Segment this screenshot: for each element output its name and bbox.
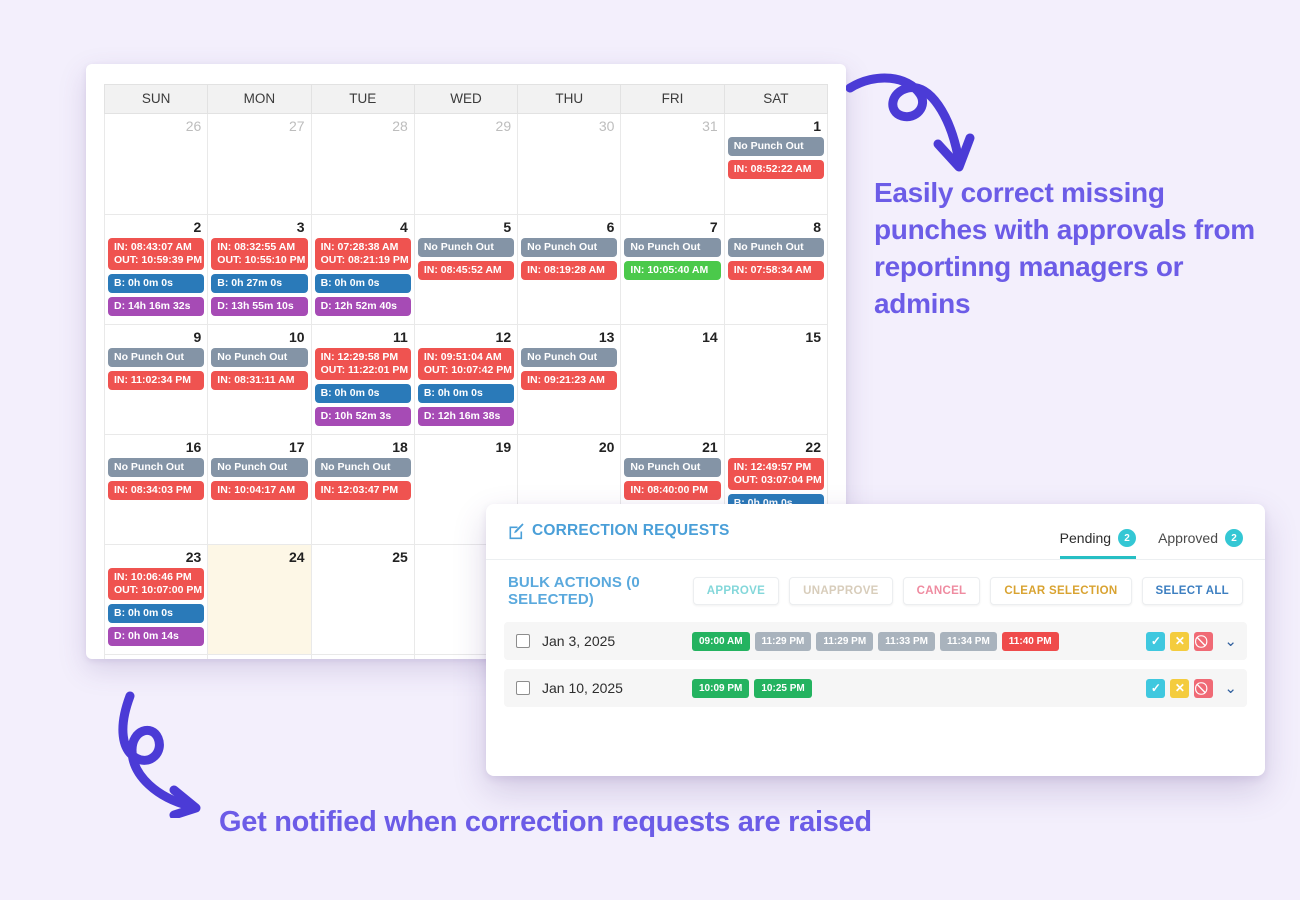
correction-request-row[interactable]: Jan 10, 202510:09 PM10:25 PM✓✕⃠⌄ — [504, 669, 1247, 707]
calendar-day-cell[interactable]: 17No Punch OutIN: 10:04:17 AM — [208, 435, 311, 545]
punch-time-chip[interactable]: 10:09 PM — [692, 679, 749, 698]
calendar-day-cell[interactable]: 4 — [311, 655, 414, 660]
expand-chevron-icon[interactable]: ⌄ — [1224, 632, 1237, 650]
day-number: 13 — [521, 328, 617, 348]
calendar-event-chip[interactable]: D: 0h 0m 14s — [108, 627, 204, 646]
event-line-1: No Punch Out — [734, 241, 804, 253]
event-line-1: D: 0h 0m 14s — [114, 630, 179, 642]
day-number: 12 — [418, 328, 514, 348]
calendar-event-chip[interactable]: IN: 10:05:40 AM — [624, 261, 720, 280]
bulk-selectall-button[interactable]: SELECT ALL — [1142, 577, 1244, 605]
event-line-1: B: 0h 0m 0s — [114, 277, 173, 289]
calendar-event-chip[interactable]: No Punch Out — [108, 348, 204, 367]
calendar-day-cell[interactable]: 1No Punch OutIN: 08:52:22 AM — [724, 114, 827, 215]
day-number: 22 — [728, 438, 824, 458]
day-number: 5 — [418, 218, 514, 238]
event-line-1: IN: 12:49:57 PM — [734, 461, 812, 473]
event-line-1: D: 12h 52m 40s — [321, 300, 397, 312]
weekday-header-thu: THU — [518, 85, 621, 114]
event-line-1: D: 12h 16m 38s — [424, 410, 500, 422]
calendar-event-chip[interactable]: IN: 12:29:58 PMOUT: 11:22:01 PM — [315, 348, 411, 380]
calendar-event-chip[interactable]: No Punch Out — [624, 238, 720, 257]
calendar-day-cell[interactable]: 3IN: 08:32:55 AMOUT: 10:55:10 PMB: 0h 27… — [208, 215, 311, 325]
calendar-event-chip[interactable]: No Punch Out — [211, 458, 307, 477]
event-line-1: IN: 08:32:55 AM — [217, 241, 295, 253]
weekday-header-fri: FRI — [621, 85, 724, 114]
event-line-1: IN: 08:52:22 AM — [734, 163, 812, 175]
day-number: 23 — [108, 548, 204, 568]
day-number: 30 — [521, 117, 617, 137]
bulk-actions-title: BULK ACTIONS (0 SELECTED) — [508, 574, 693, 608]
block-icon[interactable]: ⃠ — [1194, 632, 1213, 651]
calendar-header-row: SUNMONTUEWEDTHUFRISAT — [105, 85, 828, 114]
event-line-1: IN: 10:06:46 PM — [114, 571, 192, 583]
panel-title-text: CORRECTION REQUESTS — [532, 522, 730, 540]
calendar-event-chip[interactable]: IN: 08:52:22 AM — [728, 160, 824, 179]
calendar-event-chip[interactable]: IN: 08:31:11 AM — [211, 371, 307, 390]
calendar-event-chip[interactable]: B: 0h 27m 0s — [211, 274, 307, 293]
event-line-1: No Punch Out — [424, 241, 494, 253]
punch-time-chip[interactable]: 09:00 AM — [692, 632, 750, 651]
row-actions: ✓✕⃠⌄ — [1146, 632, 1237, 651]
day-number: 24 — [211, 548, 307, 568]
tab-approved[interactable]: Approved2 — [1158, 529, 1243, 559]
calendar-event-chip[interactable]: No Punch Out — [624, 458, 720, 477]
day-number: 3 — [211, 218, 307, 238]
day-number: 19 — [418, 438, 514, 458]
event-line-1: IN: 09:51:04 AM — [424, 351, 502, 363]
punch-time-chip[interactable]: 10:25 PM — [754, 679, 811, 698]
curved-arrow-bottom-left-icon — [112, 688, 222, 818]
calendar-event-chip[interactable]: IN: 12:49:57 PMOUT: 03:07:04 PM — [728, 458, 824, 490]
calendar-event-chip[interactable]: No Punch Out — [211, 348, 307, 367]
event-line-1: IN: 12:03:47 PM — [321, 484, 399, 496]
calendar-event-chip[interactable]: B: 0h 0m 0s — [418, 384, 514, 403]
event-line-1: IN: 08:19:28 AM — [527, 264, 605, 276]
calendar-day-cell[interactable]: 7No Punch OutIN: 10:05:40 AM — [621, 215, 724, 325]
calendar-day-cell[interactable]: 14 — [621, 325, 724, 435]
calendar-event-chip[interactable]: D: 12h 16m 38s — [418, 407, 514, 426]
calendar-event-chip[interactable]: No Punch Out — [728, 238, 824, 257]
event-line-1: No Punch Out — [217, 351, 287, 363]
calendar-day-cell[interactable]: 23IN: 10:06:46 PMOUT: 10:07:00 PMB: 0h 0… — [105, 545, 208, 655]
event-line-1: No Punch Out — [217, 461, 287, 473]
day-number: 9 — [108, 328, 204, 348]
event-line-1: No Punch Out — [527, 241, 597, 253]
day-number: 3 — [211, 658, 307, 659]
calendar-event-chip[interactable]: B: 0h 0m 0s — [108, 274, 204, 293]
calendar-day-cell[interactable]: 18No Punch OutIN: 12:03:47 PM — [311, 435, 414, 545]
tab-pending[interactable]: Pending2 — [1060, 529, 1136, 559]
event-line-1: No Punch Out — [630, 461, 700, 473]
calendar-day-cell[interactable]: 6No Punch OutIN: 08:19:28 AM — [518, 215, 621, 325]
event-line-2: OUT: 08:21:19 PM — [321, 254, 405, 267]
approve-check-icon[interactable]: ✓ — [1146, 632, 1165, 651]
event-line-2: OUT: 10:07:42 PM — [424, 364, 508, 377]
correction-request-list: Jan 3, 202509:00 AM11:29 PM11:29 PM11:33… — [486, 620, 1265, 707]
calendar-day-cell[interactable]: 16No Punch OutIN: 08:34:03 PM — [105, 435, 208, 545]
event-line-1: D: 10h 52m 3s — [321, 410, 392, 422]
event-line-1: IN: 07:28:38 AM — [321, 241, 399, 253]
day-number: 4 — [315, 658, 411, 659]
tab-label: Approved — [1158, 530, 1218, 546]
event-line-1: D: 13h 55m 10s — [217, 300, 293, 312]
event-line-1: No Punch Out — [734, 140, 804, 152]
event-line-2: OUT: 10:59:39 PM — [114, 254, 198, 267]
tab-count-badge: 2 — [1118, 529, 1136, 547]
row-date: Jan 10, 2025 — [542, 680, 692, 696]
event-line-1: IN: 07:58:34 AM — [734, 264, 812, 276]
calendar-day-cell[interactable]: 24 — [208, 545, 311, 655]
row-actions: ✓✕⃠⌄ — [1146, 679, 1237, 698]
day-number: 25 — [315, 548, 411, 568]
headline-text: Easily correct missing punches with appr… — [874, 174, 1274, 322]
punch-time-chip[interactable]: 11:34 PM — [940, 632, 997, 651]
calendar-week-row: 2627282930311No Punch OutIN: 08:52:22 AM — [105, 114, 828, 215]
day-number: 29 — [418, 117, 514, 137]
row-date: Jan 3, 2025 — [542, 633, 692, 649]
calendar-event-chip[interactable]: IN: 09:51:04 AMOUT: 10:07:42 PM — [418, 348, 514, 380]
calendar-day-cell[interactable]: 10No Punch OutIN: 08:31:11 AM — [208, 325, 311, 435]
day-number: 21 — [624, 438, 720, 458]
event-line-1: B: 0h 0m 0s — [321, 277, 380, 289]
day-number: 27 — [211, 117, 307, 137]
event-line-1: IN: 08:45:52 AM — [424, 264, 502, 276]
calendar-event-chip[interactable]: IN: 08:34:03 PM — [108, 481, 204, 500]
calendar-event-chip[interactable]: IN: 07:28:38 AMOUT: 08:21:19 PM — [315, 238, 411, 270]
correction-requests-panel: CORRECTION REQUESTS Pending2Approved2 BU… — [486, 504, 1265, 776]
calendar-event-chip[interactable]: B: 0h 0m 0s — [315, 384, 411, 403]
event-line-1: D: 14h 16m 32s — [114, 300, 190, 312]
day-number: 1 — [728, 117, 824, 137]
day-number: 8 — [728, 218, 824, 238]
day-number: 2 — [108, 218, 204, 238]
event-line-1: IN: 09:21:23 AM — [527, 374, 605, 386]
day-number: 17 — [211, 438, 307, 458]
calendar-day-cell[interactable]: 11IN: 12:29:58 PMOUT: 11:22:01 PMB: 0h 0… — [311, 325, 414, 435]
calendar-event-chip[interactable]: IN: 09:21:23 AM — [521, 371, 617, 390]
day-number: 6 — [521, 218, 617, 238]
event-line-1: No Punch Out — [527, 351, 597, 363]
calendar-event-chip[interactable]: IN: 08:19:28 AM — [521, 261, 617, 280]
day-number: 2 — [108, 658, 204, 659]
day-number: 15 — [728, 328, 824, 348]
calendar-event-chip[interactable]: D: 10h 52m 3s — [315, 407, 411, 426]
event-line-1: No Punch Out — [114, 461, 184, 473]
panel-title: CORRECTION REQUESTS — [508, 522, 730, 540]
calendar-day-cell[interactable]: 8No Punch OutIN: 07:58:34 AM — [724, 215, 827, 325]
punch-time-chip[interactable]: 11:40 PM — [1002, 632, 1059, 651]
event-line-1: B: 0h 27m 0s — [217, 277, 282, 289]
day-number: 7 — [624, 218, 720, 238]
punch-time-chip[interactable]: 11:33 PM — [878, 632, 935, 651]
punch-time-chip[interactable]: 11:29 PM — [816, 632, 873, 651]
calendar-day-cell[interactable]: 4IN: 07:28:38 AMOUT: 08:21:19 PMB: 0h 0m… — [311, 215, 414, 325]
calendar-event-chip[interactable]: IN: 08:40:00 PM — [624, 481, 720, 500]
calendar-event-chip[interactable]: D: 14h 16m 32s — [108, 297, 204, 316]
row-checkbox[interactable] — [516, 681, 530, 695]
day-number: 20 — [521, 438, 617, 458]
calendar-day-cell[interactable]: 26 — [105, 114, 208, 215]
day-number: 31 — [624, 117, 720, 137]
weekday-header-mon: MON — [208, 85, 311, 114]
weekday-header-tue: TUE — [311, 85, 414, 114]
approve-check-icon[interactable]: ✓ — [1146, 679, 1165, 698]
event-line-1: B: 0h 0m 0s — [114, 607, 173, 619]
event-line-1: IN: 08:34:03 PM — [114, 484, 192, 496]
calendar-event-chip[interactable]: IN: 08:32:55 AMOUT: 10:55:10 PM — [211, 238, 307, 270]
calendar-day-cell[interactable]: 27 — [208, 114, 311, 215]
event-line-1: IN: 10:05:40 AM — [630, 264, 708, 276]
calendar-day-cell[interactable]: 15 — [724, 325, 827, 435]
row-checkbox[interactable] — [516, 634, 530, 648]
day-number: 11 — [315, 328, 411, 348]
calendar-day-cell[interactable]: 3 — [208, 655, 311, 660]
weekday-header-wed: WED — [414, 85, 517, 114]
calendar-event-chip[interactable]: No Punch Out — [108, 458, 204, 477]
event-line-1: B: 0h 0m 0s — [424, 387, 483, 399]
calendar-day-cell[interactable]: 30 — [518, 114, 621, 215]
reject-x-icon[interactable]: ✕ — [1170, 632, 1189, 651]
calendar-day-cell[interactable]: 25 — [311, 545, 414, 655]
calendar-event-chip[interactable]: D: 13h 55m 10s — [211, 297, 307, 316]
calendar-day-cell[interactable]: 31 — [621, 114, 724, 215]
day-number: 10 — [211, 328, 307, 348]
event-line-1: No Punch Out — [114, 351, 184, 363]
calendar-day-cell[interactable]: 2 — [105, 655, 208, 660]
expand-chevron-icon[interactable]: ⌄ — [1224, 679, 1237, 697]
calendar-event-chip[interactable]: No Punch Out — [418, 238, 514, 257]
weekday-header-sat: SAT — [724, 85, 827, 114]
reject-x-icon[interactable]: ✕ — [1170, 679, 1189, 698]
calendar-day-cell[interactable]: 9No Punch OutIN: 11:02:34 PM — [105, 325, 208, 435]
event-line-1: No Punch Out — [630, 241, 700, 253]
event-line-1: IN: 08:43:07 AM — [114, 241, 192, 253]
calendar-event-chip[interactable]: IN: 10:04:17 AM — [211, 481, 307, 500]
bulk-clear-button[interactable]: CLEAR SELECTION — [990, 577, 1131, 605]
calendar-day-cell[interactable]: 12IN: 09:51:04 AMOUT: 10:07:42 PMB: 0h 0… — [414, 325, 517, 435]
calendar-event-chip[interactable]: IN: 07:58:34 AM — [728, 261, 824, 280]
day-number: 18 — [315, 438, 411, 458]
calendar-event-chip[interactable]: D: 12h 52m 40s — [315, 297, 411, 316]
panel-tabs: Pending2Approved2 — [1060, 529, 1243, 559]
day-number: 16 — [108, 438, 204, 458]
event-line-1: B: 0h 0m 0s — [321, 387, 380, 399]
calendar-event-chip[interactable]: IN: 10:06:46 PMOUT: 10:07:00 PM — [108, 568, 204, 600]
calendar-day-cell[interactable]: 29 — [414, 114, 517, 215]
event-line-2: OUT: 10:55:10 PM — [217, 254, 301, 267]
day-number: 28 — [315, 117, 411, 137]
day-number: 26 — [108, 117, 204, 137]
panel-header: CORRECTION REQUESTS Pending2Approved2 — [486, 504, 1265, 560]
caption-text: Get notified when correction requests ar… — [219, 806, 872, 839]
calendar-event-chip[interactable]: IN: 11:02:34 PM — [108, 371, 204, 390]
event-line-1: IN: 12:29:58 PM — [321, 351, 399, 363]
calendar-week-row: 2IN: 08:43:07 AMOUT: 10:59:39 PMB: 0h 0m… — [105, 215, 828, 325]
block-icon[interactable]: ⃠ — [1194, 679, 1213, 698]
calendar-event-chip[interactable]: B: 0h 0m 0s — [108, 604, 204, 623]
day-number: 14 — [624, 328, 720, 348]
day-number: 4 — [315, 218, 411, 238]
punch-time-chip[interactable]: 11:29 PM — [755, 632, 812, 651]
event-line-1: No Punch Out — [321, 461, 391, 473]
calendar-event-chip[interactable]: No Punch Out — [315, 458, 411, 477]
event-line-1: IN: 11:02:34 PM — [114, 374, 191, 386]
tab-count-badge: 2 — [1225, 529, 1243, 547]
bulk-actions-row: BULK ACTIONS (0 SELECTED) APPROVEUNAPPRO… — [486, 560, 1265, 620]
bulk-cancel-button[interactable]: CANCEL — [903, 577, 981, 605]
calendar-day-cell[interactable]: 28 — [311, 114, 414, 215]
bulk-approve-button[interactable]: APPROVE — [693, 577, 779, 605]
curved-arrow-top-right-icon — [846, 72, 976, 184]
correction-request-row[interactable]: Jan 3, 202509:00 AM11:29 PM11:29 PM11:33… — [504, 622, 1247, 660]
event-line-1: IN: 08:40:00 PM — [630, 484, 708, 496]
event-line-2: OUT: 03:07:04 PM — [734, 474, 818, 487]
bulk-actions-buttons: APPROVEUNAPPROVECANCELCLEAR SELECTIONSEL… — [693, 577, 1243, 605]
calendar-day-cell[interactable]: 2IN: 08:43:07 AMOUT: 10:59:39 PMB: 0h 0m… — [105, 215, 208, 325]
event-line-1: IN: 08:31:11 AM — [217, 374, 294, 386]
punch-time-chips: 10:09 PM10:25 PM — [692, 679, 1146, 698]
calendar-event-chip[interactable]: No Punch Out — [521, 238, 617, 257]
calendar-event-chip[interactable]: IN: 12:03:47 PM — [315, 481, 411, 500]
calendar-week-row: 9No Punch OutIN: 11:02:34 PM10No Punch O… — [105, 325, 828, 435]
tab-label: Pending — [1060, 530, 1111, 546]
calendar-event-chip[interactable]: B: 0h 0m 0s — [315, 274, 411, 293]
calendar-event-chip[interactable]: No Punch Out — [728, 137, 824, 156]
punch-time-chips: 09:00 AM11:29 PM11:29 PM11:33 PM11:34 PM… — [692, 632, 1146, 651]
calendar-event-chip[interactable]: IN: 08:45:52 AM — [418, 261, 514, 280]
event-line-2: OUT: 10:07:00 PM — [114, 584, 198, 597]
calendar-day-cell[interactable]: 13No Punch OutIN: 09:21:23 AM — [518, 325, 621, 435]
calendar-day-cell[interactable]: 5No Punch OutIN: 08:45:52 AM — [414, 215, 517, 325]
event-line-1: IN: 10:04:17 AM — [217, 484, 295, 496]
edit-square-icon — [508, 523, 525, 540]
calendar-event-chip[interactable]: IN: 08:43:07 AMOUT: 10:59:39 PM — [108, 238, 204, 270]
event-line-2: OUT: 11:22:01 PM — [321, 364, 405, 377]
bulk-unapprove-button[interactable]: UNAPPROVE — [789, 577, 893, 605]
weekday-header-sun: SUN — [105, 85, 208, 114]
calendar-event-chip[interactable]: No Punch Out — [521, 348, 617, 367]
